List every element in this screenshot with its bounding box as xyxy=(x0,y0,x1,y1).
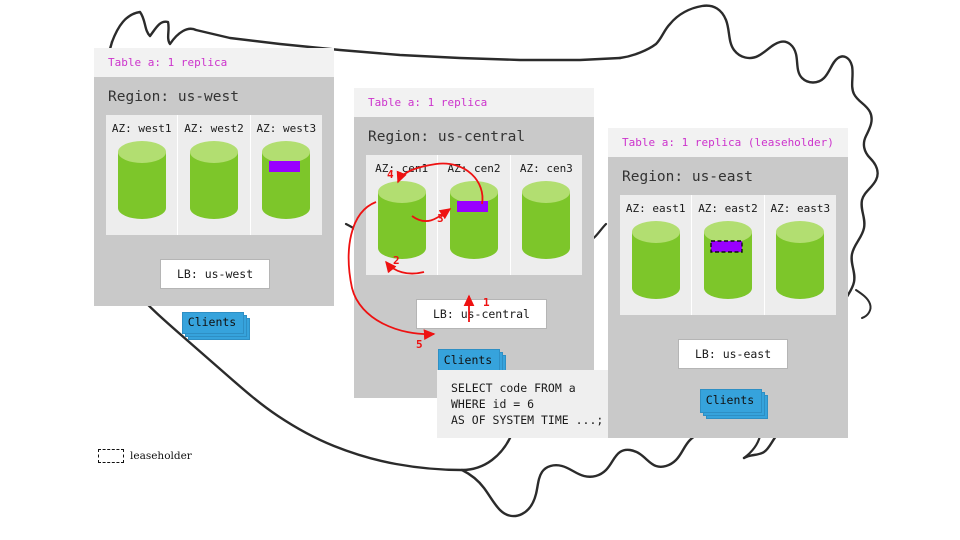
az-cell-east3[interactable]: AZ: east3 xyxy=(765,195,836,315)
flow-number-4: 4 xyxy=(387,168,394,181)
region-body-us-central: Region: us-central AZ: cen1 AZ: cen2 xyxy=(354,117,594,398)
flow-number-3: 3 xyxy=(437,212,444,225)
az-row-us-west: AZ: west1 AZ: west2 xyxy=(106,115,322,235)
region-panel-us-central: Table a: 1 replica Region: us-central AZ… xyxy=(354,88,594,398)
node-cylinder-east2[interactable] xyxy=(692,220,763,316)
node-cylinder-cen2[interactable] xyxy=(438,180,509,276)
region-body-us-west: Region: us-west AZ: west1 AZ: west2 xyxy=(94,77,334,306)
replica-block-west3 xyxy=(269,161,300,172)
region-panel-us-west: Table a: 1 replica Region: us-west AZ: w… xyxy=(94,48,334,306)
node-cylinder-east1[interactable] xyxy=(620,220,691,316)
flow-number-2: 2 xyxy=(393,254,400,267)
legend-label: leaseholder xyxy=(130,450,192,462)
legend-leaseholder: leaseholder xyxy=(98,449,192,463)
region-panel-us-east: Table a: 1 replica (leaseholder) Region:… xyxy=(608,128,848,438)
node-cylinder-east3[interactable] xyxy=(765,220,836,316)
leaseholder-swatch-icon xyxy=(98,449,124,463)
az-cell-east2[interactable]: AZ: east2 xyxy=(692,195,764,315)
node-cylinder-west3[interactable] xyxy=(251,140,322,236)
load-balancer-us-west[interactable]: LB: us-west xyxy=(160,259,270,289)
load-balancer-us-central[interactable]: LB: us-central xyxy=(416,299,547,329)
region-header-us-west: Table a: 1 replica xyxy=(94,48,334,77)
node-cylinder-cen3[interactable] xyxy=(511,180,582,276)
load-balancer-us-east[interactable]: LB: us-east xyxy=(678,339,788,369)
az-label-west1: AZ: west1 xyxy=(106,115,177,140)
az-label-cen1: AZ: cen1 xyxy=(366,155,437,180)
clients-stack-us-central[interactable]: Clients xyxy=(438,349,502,373)
clients-label-us-west: Clients xyxy=(182,312,242,332)
flow-number-5: 5 xyxy=(416,338,423,351)
sql-query-box: SELECT code FROM a WHERE id = 6 AS OF SY… xyxy=(437,370,610,438)
node-cylinder-west1[interactable] xyxy=(106,140,177,236)
clients-stack-us-east[interactable]: Clients xyxy=(700,389,764,413)
az-label-east2: AZ: east2 xyxy=(692,195,763,220)
flow-number-1: 1 xyxy=(483,296,490,309)
az-label-cen2: AZ: cen2 xyxy=(438,155,509,180)
az-cell-cen1[interactable]: AZ: cen1 xyxy=(366,155,438,275)
clients-label-us-central: Clients xyxy=(438,349,498,371)
node-cylinder-cen1[interactable] xyxy=(366,180,437,276)
replica-block-cen2 xyxy=(457,201,488,212)
region-title-us-east: Region: us-east xyxy=(608,157,848,195)
az-label-west2: AZ: west2 xyxy=(178,115,249,140)
az-cell-west2[interactable]: AZ: west2 xyxy=(178,115,250,235)
az-label-west3: AZ: west3 xyxy=(251,115,322,140)
az-cell-west3[interactable]: AZ: west3 xyxy=(251,115,322,235)
region-body-us-east: Region: us-east AZ: east1 AZ: east2 xyxy=(608,157,848,438)
diagram-canvas: Table a: 1 replica Region: us-west AZ: w… xyxy=(0,0,960,540)
node-cylinder-west2[interactable] xyxy=(178,140,249,236)
region-header-us-east: Table a: 1 replica (leaseholder) xyxy=(608,128,848,157)
region-header-us-central: Table a: 1 replica xyxy=(354,88,594,117)
az-cell-east1[interactable]: AZ: east1 xyxy=(620,195,692,315)
az-row-us-east: AZ: east1 AZ: east2 xyxy=(620,195,836,315)
az-cell-cen3[interactable]: AZ: cen3 xyxy=(511,155,582,275)
clients-label-us-east: Clients xyxy=(700,389,760,411)
region-title-us-west: Region: us-west xyxy=(94,77,334,115)
clients-stack-us-west[interactable]: Clients xyxy=(182,312,246,336)
az-cell-west1[interactable]: AZ: west1 xyxy=(106,115,178,235)
region-title-us-central: Region: us-central xyxy=(354,117,594,155)
az-label-cen3: AZ: cen3 xyxy=(511,155,582,180)
az-cell-cen2[interactable]: AZ: cen2 xyxy=(438,155,510,275)
replica-block-east2-leaseholder xyxy=(711,241,742,252)
az-label-east3: AZ: east3 xyxy=(765,195,836,220)
az-label-east1: AZ: east1 xyxy=(620,195,691,220)
